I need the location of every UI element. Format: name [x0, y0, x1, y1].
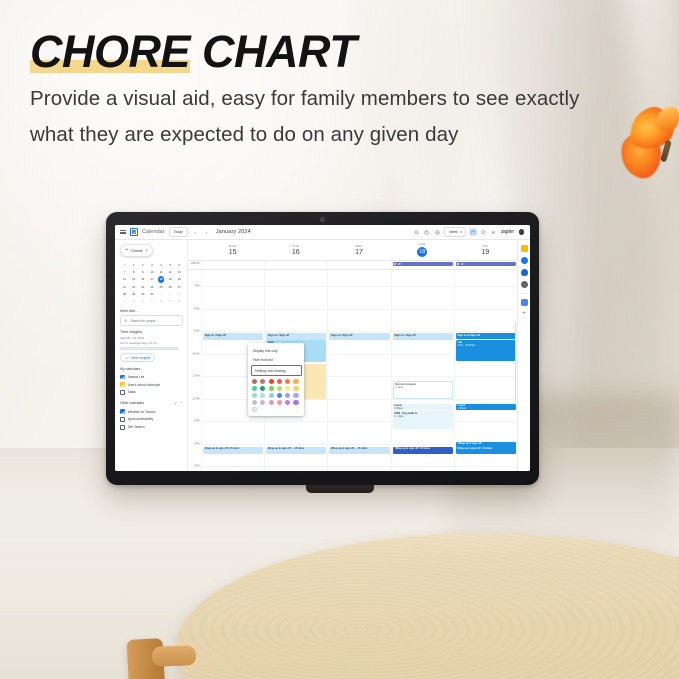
plus-icon[interactable]: +	[174, 401, 176, 406]
mini-calendar-day[interactable]: 9	[138, 268, 147, 275]
color-swatch-grid	[248, 376, 304, 406]
current-period-label: January 2024	[216, 229, 251, 235]
day-header[interactable]: MON15	[201, 240, 264, 260]
time-label: 9 AM	[194, 330, 200, 333]
hour-gridline	[265, 331, 327, 332]
hour-gridline	[392, 309, 454, 310]
day-number-label: 19	[482, 249, 490, 256]
mini-calendar-day[interactable]: 29	[129, 290, 138, 297]
mini-calendar-day[interactable]: 10	[147, 268, 156, 275]
chevron-down-icon: ▾	[460, 230, 461, 234]
poster-subtitle-line-2: what they are expected to do on any give…	[30, 120, 630, 149]
mini-calendar-day[interactable]: 9	[166, 298, 175, 305]
create-button-label: Create	[131, 248, 143, 253]
my-calendar-label: Jessica Lee	[128, 375, 145, 379]
mini-calendar-day[interactable]: 17	[147, 276, 156, 283]
hour-gridline	[328, 354, 390, 355]
timezone-label: GMT-05	[188, 261, 201, 269]
mini-calendar[interactable]: 3112345678910111213141516171819202122232…	[120, 261, 184, 305]
hour-gridline	[328, 399, 390, 400]
calendar-body: + Create ▾ 31123456789101112131415161718…	[115, 240, 530, 471]
color-swatch[interactable]	[260, 386, 265, 391]
side-panel-rail: +	[517, 240, 530, 471]
time-label: 12 PM	[192, 397, 199, 400]
my-calendar-item[interactable]: Tasks	[120, 389, 183, 397]
hour-gridline	[328, 376, 390, 377]
mini-calendar-day[interactable]: 11	[157, 268, 166, 275]
mini-calendar-day[interactable]: 15	[129, 276, 138, 283]
my-calendar-label: Tasks	[128, 390, 136, 394]
calendar-event[interactable]: Sign on / Sign off	[203, 333, 263, 340]
checkbox-icon[interactable]	[120, 417, 125, 422]
hour-gridline	[455, 399, 517, 400]
calendar-grid: MON15TUE16WED17THU18FRI19 GMT-05 18°11° …	[187, 240, 517, 471]
color-swatch[interactable]	[252, 400, 257, 405]
event-title: Wrap up & sign off / 15 mins	[395, 447, 451, 450]
hour-gridline	[202, 444, 264, 445]
tablet-camera	[320, 217, 325, 222]
allday-event[interactable]: 18°	[393, 262, 453, 266]
grid-scroll-area[interactable]: 7 AM8 AM9 AM10 AM11 AM12 PM1 PM2 PM3 PM …	[188, 270, 517, 471]
mini-calendar-day[interactable]: 23	[138, 283, 147, 290]
meet-with-heading: Meet with...	[120, 309, 183, 313]
my-calendars-heading[interactable]: My calendars	[120, 367, 183, 371]
context-menu-item[interactable]: Settings and sharing	[251, 365, 302, 376]
page-title: CHORE CHART	[30, 28, 356, 77]
hour-gridline	[392, 444, 454, 445]
calendar-event[interactable]: Wrap up & sign off / 15 mins	[203, 447, 263, 454]
allday-row: GMT-05 18°11°	[188, 261, 517, 270]
calendar-event[interactable]: Sign on / Sign off	[393, 333, 453, 340]
mini-calendar-day[interactable]: 8	[157, 298, 166, 305]
mini-calendar-day[interactable]: 1	[129, 261, 138, 268]
other-calendar-label: Weather for Toronto	[128, 410, 156, 414]
weather-icon	[394, 263, 396, 265]
calendar-event[interactable]: Wrap up & sign off / 15 mins	[393, 447, 453, 454]
color-swatch[interactable]	[293, 379, 298, 384]
help-icon[interactable]	[423, 229, 430, 236]
day-of-week-label: THU	[419, 243, 426, 246]
mini-calendar-day[interactable]: 25	[157, 283, 166, 290]
event-time: 1–2pm	[395, 386, 450, 389]
color-swatch[interactable]	[285, 379, 290, 384]
mini-calendar-day[interactable]: 5	[166, 261, 175, 268]
color-swatch[interactable]	[269, 393, 274, 398]
poster-title-wrap: CHORE CHART	[30, 28, 356, 77]
color-swatch[interactable]	[260, 393, 265, 398]
mini-calendar-week: 21222324252627	[120, 283, 184, 290]
hour-gridline	[455, 331, 517, 332]
weather-icon	[457, 263, 459, 265]
context-menu-items: Display this onlyHide from listSettings …	[248, 346, 304, 376]
time-label: 3 PM	[194, 465, 200, 468]
time-axis: 7 AM8 AM9 AM10 AM11 AM12 PM1 PM2 PM3 PM	[188, 270, 201, 471]
mini-calendar-day[interactable]: 5	[129, 298, 138, 305]
prev-period-button[interactable]: ‹	[192, 229, 199, 236]
event-title: Wrap up & sign off / 15 mins	[457, 447, 514, 450]
mini-calendar-day[interactable]: 28	[120, 290, 129, 297]
day-of-week-label: FRI	[483, 245, 489, 248]
color-swatch[interactable]	[252, 386, 257, 391]
calendar-event[interactable]: Sign on / Sign off	[266, 333, 326, 340]
tablet-screen: Calendar Today ‹ › January 2024 Week ▾	[115, 225, 530, 471]
hour-gridline	[392, 331, 454, 332]
calendar-event[interactable]: Lunch1:30pm	[456, 404, 516, 410]
mini-calendar-day[interactable]: 7	[147, 298, 156, 305]
calendar-topbar: Calendar Today ‹ › January 2024 Week ▾	[115, 225, 530, 240]
color-swatch[interactable]	[269, 386, 274, 391]
hour-gridline	[392, 354, 454, 355]
allday-event-title: 18°	[397, 263, 401, 266]
mini-calendar-day[interactable]: 10	[175, 298, 184, 305]
chair-armrest	[152, 645, 197, 667]
today-button[interactable]: Today	[169, 227, 188, 236]
mini-calendar-day[interactable]: 26	[166, 283, 175, 290]
mini-calendar-day[interactable]: 3	[147, 261, 156, 268]
event-title: Sign on / Sign off	[205, 334, 262, 337]
event-title: Sign on / Sign off	[331, 334, 388, 337]
topbar-actions: Week ▾ zapier	[413, 227, 525, 236]
color-swatch[interactable]	[252, 379, 257, 384]
event-time: 1:30pm	[457, 407, 514, 409]
color-swatch[interactable]	[293, 400, 298, 405]
person-search-icon	[124, 319, 128, 323]
hour-gridline	[392, 376, 454, 377]
color-swatch[interactable]	[252, 393, 257, 398]
my-calendars-list: Jessica LeeJess's school scheduleTasks	[120, 373, 183, 396]
my-calendar-label: Jess's school schedule	[128, 383, 161, 387]
hour-gridline	[455, 421, 517, 422]
mini-calendar-day[interactable]: 6	[138, 298, 147, 305]
event-title: Sign on / Sign off	[394, 334, 451, 337]
other-calendar-item[interactable]: #gold-accessibility	[120, 416, 183, 424]
color-swatch[interactable]	[260, 400, 265, 405]
mini-calendar-day[interactable]: 22	[129, 283, 138, 290]
event-title: Wrap up & sign off ... 15 mins	[268, 447, 325, 450]
hour-gridline	[455, 309, 517, 310]
hour-gridline	[392, 399, 454, 400]
calendar-event[interactable]: Remote Hangout1–2pm	[393, 381, 453, 399]
time-label: 2 PM	[194, 442, 200, 445]
mini-calendar-day[interactable]: 31	[120, 261, 129, 268]
event-title: Sign on & Sign off	[457, 334, 514, 337]
contacts-icon[interactable]	[521, 269, 528, 276]
day-number-label: 18	[417, 247, 427, 257]
mini-calendar-day[interactable]: 2	[166, 290, 175, 297]
other-calendar-label: Deb Tennen	[128, 425, 145, 429]
calendar-event[interactable]: FWB - Dog walk 1x2 – 3pm	[393, 411, 453, 429]
color-swatch[interactable]	[269, 379, 274, 384]
mini-calendar-day[interactable]: 8	[129, 268, 138, 275]
color-swatch[interactable]	[293, 386, 298, 391]
calendar-event[interactable]: Wrap up & sign off ... 15 mins	[266, 447, 326, 454]
mini-calendar-week: 45678910	[120, 298, 184, 305]
allday-columns: 18°11°	[201, 261, 517, 269]
mini-calendar-day[interactable]: 4	[120, 298, 129, 305]
hour-gridline	[328, 286, 390, 287]
view-select-value: Week	[449, 230, 458, 234]
time-insights-heading: Time insights	[120, 330, 183, 334]
time-label: 11 AM	[193, 375, 200, 378]
checkbox-icon[interactable]	[120, 425, 125, 430]
other-calendar-item[interactable]: Deb Tennen	[120, 423, 183, 431]
other-calendars-heading[interactable]: Other calendars + ⌃	[120, 401, 183, 406]
context-menu-item[interactable]: Display this only	[248, 346, 304, 356]
hour-gridline	[202, 286, 264, 287]
allday-event[interactable]: 11°	[456, 262, 516, 266]
allday-event-title: 11°	[461, 263, 465, 266]
hour-gridline	[265, 421, 327, 422]
event-title: Wrap up & sign off ... 15 mins	[331, 447, 388, 450]
allday-column[interactable]: 11°	[454, 261, 517, 269]
hour-gridline	[328, 331, 390, 332]
day-of-week-label: TUE	[293, 245, 300, 248]
mini-calendar-day[interactable]: 1	[157, 290, 166, 297]
more-colors-button[interactable]: +	[252, 407, 257, 412]
mini-calendar-day[interactable]: 18	[157, 276, 166, 283]
day-column[interactable]: Sign on / Sign offWrap up & sign off ...…	[327, 270, 390, 471]
time-label: 8 AM	[194, 307, 200, 310]
allday-column[interactable]: 18°	[391, 261, 454, 269]
other-calendars-actions: + ⌃	[174, 401, 183, 406]
day-column[interactable]: Sign on & Sign offLab9:15 – 10:15amLunch…	[454, 270, 517, 471]
add-apps-icon[interactable]: +	[521, 311, 528, 318]
hour-gridline	[202, 331, 264, 332]
view-select[interactable]: Week ▾	[444, 227, 466, 236]
rail-divider	[520, 293, 528, 294]
calendar-event[interactable]: Lunch1:30pm	[393, 404, 453, 410]
color-swatch[interactable]	[293, 393, 298, 398]
time-insights-range: JAN 15 – 19, 2024	[120, 336, 183, 340]
mini-calendar-day[interactable]: 21	[120, 283, 129, 290]
event-time: 1:30pm	[394, 407, 451, 409]
color-swatch[interactable]	[285, 393, 290, 398]
hour-gridline	[202, 421, 264, 422]
checkbox-icon[interactable]	[120, 390, 125, 395]
calendar-logo-icon	[130, 228, 138, 236]
hour-gridline	[455, 286, 517, 287]
mini-calendar-day[interactable]: 7	[120, 268, 129, 275]
calendar-event[interactable]: Lab9:15 – 10:15am	[456, 340, 516, 361]
other-calendars-label: Other calendars	[120, 401, 144, 405]
color-swatch[interactable]	[277, 379, 282, 384]
maps-icon[interactable]	[521, 281, 528, 288]
menu-icon[interactable]	[120, 230, 126, 234]
hour-gridline	[265, 309, 327, 310]
mini-calendar-day[interactable]: 20	[175, 276, 184, 283]
time-insights-stat: 0 hr in meetings (avg. 0.1 hr)	[120, 341, 183, 345]
hour-gridline	[392, 466, 454, 467]
mini-calendar-day[interactable]: 2	[138, 261, 147, 268]
hour-gridline	[265, 286, 327, 287]
color-swatch[interactable]	[277, 400, 282, 405]
color-swatch[interactable]	[285, 400, 290, 405]
tasks-icon[interactable]	[521, 257, 528, 264]
chat-icon[interactable]	[521, 299, 528, 306]
more-insights-button[interactable]: More insights	[120, 353, 155, 363]
hour-gridline	[455, 466, 517, 467]
mini-calendar-day[interactable]: 30	[138, 290, 147, 297]
day-number-label: 15	[229, 249, 237, 256]
settings-icon[interactable]	[434, 229, 441, 236]
avatar[interactable]	[518, 228, 526, 236]
day-column[interactable]: Sign on / Sign offRemote Hangout1–2pmLun…	[391, 270, 454, 471]
account-brand-label: zapier	[501, 229, 514, 235]
chevron-up-icon[interactable]: ⌃	[180, 401, 183, 406]
mini-calendar-week: 14151617181920	[120, 276, 184, 283]
calendar-context-menu: Display this onlyHide from listSettings …	[248, 343, 304, 416]
calendar-event[interactable]: Wrap up & sign off ... 15 mins	[329, 447, 389, 454]
calendar-event[interactable]: Sign on / Sign off	[329, 333, 389, 340]
poster-subtitle-line-1: Provide a visual aid, easy for family me…	[30, 84, 630, 113]
hour-gridline	[202, 466, 264, 467]
event-title: Wrap up & sign off / 15 mins	[205, 447, 262, 450]
create-button[interactable]: + Create ▾	[120, 244, 153, 257]
checkbox-icon[interactable]	[120, 409, 125, 414]
day-number-label: 16	[292, 249, 300, 256]
mini-calendar-day[interactable]: 14	[120, 276, 129, 283]
allday-column[interactable]	[201, 261, 264, 269]
color-swatch[interactable]	[260, 379, 265, 384]
other-calendar-item[interactable]: Weather for Toronto	[120, 408, 183, 416]
next-period-button[interactable]: ›	[203, 229, 210, 236]
day-header-row: MON15TUE16WED17THU18FRI19	[188, 240, 517, 261]
event-time: 9:15 – 10:15am	[457, 344, 514, 347]
checkbox-icon[interactable]	[120, 382, 125, 387]
day-of-week-label: MON	[229, 245, 236, 248]
day-number-label: 17	[355, 249, 363, 256]
apps-grid-icon[interactable]	[489, 228, 497, 236]
hour-gridline	[328, 309, 390, 310]
search-icon[interactable]	[413, 229, 420, 236]
plus-icon: +	[125, 248, 128, 253]
hour-gridline	[328, 421, 390, 422]
mini-calendar-day[interactable]: 6	[175, 261, 184, 268]
context-menu-item[interactable]: Hide from list	[248, 356, 304, 366]
mini-calendar-week: 31123456	[120, 261, 184, 268]
time-insights-bar	[120, 347, 178, 350]
mini-calendar-day[interactable]: 13	[175, 268, 184, 275]
day-header[interactable]: TUE16	[264, 240, 327, 260]
keep-icon[interactable]	[521, 245, 528, 252]
color-swatch[interactable]	[277, 386, 282, 391]
color-swatch[interactable]	[277, 393, 282, 398]
calendar-event[interactable]: Sign on & Sign off	[456, 333, 516, 339]
poster-headline-block: CHORE CHART Provide a visual aid, easy f…	[30, 28, 630, 149]
time-label: 7 AM	[194, 285, 200, 288]
hour-gridline	[265, 466, 327, 467]
other-calendars-list: Weather for Toronto#gold-accessibilityDe…	[120, 408, 183, 431]
color-swatch[interactable]	[285, 386, 290, 391]
event-title: Wrap up & sign off	[458, 442, 514, 445]
mini-calendar-day[interactable]: 16	[138, 276, 147, 283]
view-calendar-icon[interactable]	[469, 228, 477, 236]
color-swatch[interactable]	[269, 400, 274, 405]
mini-calendar-day[interactable]: 3	[175, 290, 184, 297]
time-label: 1 PM	[194, 420, 200, 423]
mini-calendar-day[interactable]: 12	[166, 268, 175, 275]
allday-column[interactable]	[264, 261, 327, 269]
my-calendar-item[interactable]: Jessica Lee	[120, 373, 183, 381]
app-title: Calendar	[142, 229, 165, 235]
more-insights-label: More insights	[132, 356, 151, 360]
allday-column[interactable]	[327, 261, 390, 269]
search-people-placeholder: Search for people	[131, 319, 156, 323]
day-header[interactable]: WED17	[327, 240, 390, 260]
hour-gridline	[455, 376, 517, 377]
day-header[interactable]: FRI19	[454, 240, 517, 260]
mini-calendar-day[interactable]: 31	[147, 290, 156, 297]
my-calendar-item[interactable]: Jess's school schedule	[120, 381, 183, 389]
hour-gridline	[202, 309, 264, 310]
view-toggle-group	[469, 228, 497, 236]
mini-calendar-day[interactable]: 24	[147, 283, 156, 290]
insights-icon	[125, 356, 129, 360]
time-label: 10 AM	[192, 352, 199, 355]
day-of-week-label: WED	[355, 245, 362, 248]
checkbox-icon[interactable]	[120, 375, 125, 380]
mini-calendar-day[interactable]: 19	[166, 276, 175, 283]
calendar-event[interactable]: Wrap up & sign off / 15 mins	[456, 447, 516, 454]
chevron-down-icon: ▾	[146, 248, 147, 252]
event-title: Sign on / Sign off	[268, 334, 325, 337]
mini-calendar-week: 28293031123	[120, 290, 184, 297]
hour-gridline	[392, 286, 454, 287]
day-header[interactable]: THU18	[391, 240, 454, 260]
hour-gridline	[328, 444, 390, 445]
calendar-sidebar: + Create ▾ 31123456789101112131415161718…	[115, 240, 187, 471]
header-gutter	[188, 240, 201, 260]
hour-gridline	[265, 444, 327, 445]
mini-calendar-day[interactable]: 4	[157, 261, 166, 268]
mini-calendar-week: 78910111213	[120, 268, 184, 275]
search-people-input[interactable]: Search for people	[120, 315, 183, 325]
my-calendars-label: My calendars	[120, 367, 140, 371]
view-mask-icon[interactable]	[479, 228, 487, 236]
other-calendar-label: #gold-accessibility	[128, 417, 154, 421]
tablet-device: Calendar Today ‹ › January 2024 Week ▾	[106, 212, 539, 485]
hour-gridline	[328, 466, 390, 467]
event-time: 2 – 3pm	[394, 415, 451, 418]
mini-calendar-day[interactable]: 27	[175, 283, 184, 290]
day-headers: MON15TUE16WED17THU18FRI19	[201, 240, 517, 260]
